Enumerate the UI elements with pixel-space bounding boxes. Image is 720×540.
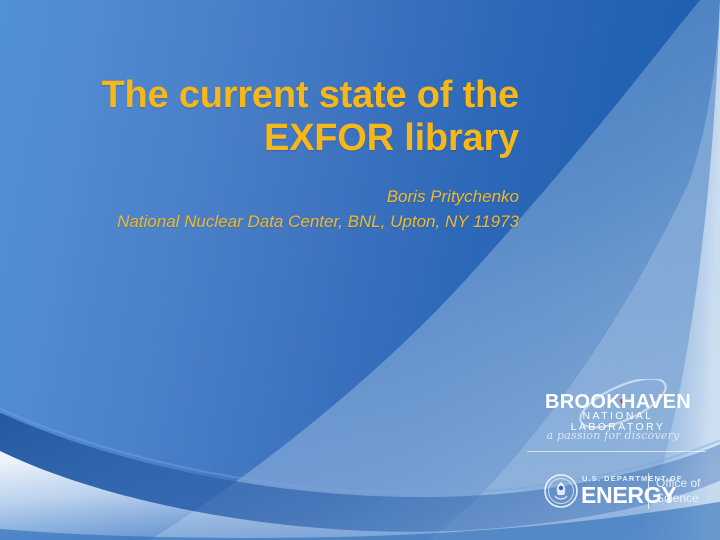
byline: Boris Pritychenko National Nuclear Data …	[30, 184, 519, 234]
author-affiliation: National Nuclear Data Center, BNL, Upton…	[30, 209, 519, 234]
doe-office-line-2: Science	[656, 491, 700, 506]
author-name: Boris Pritychenko	[30, 184, 519, 209]
doe-logo: U.S. DEPARTMENT OF ENERGY Office of Scie…	[544, 472, 710, 512]
logo-divider-rule	[527, 451, 706, 452]
page-title: The current state of the EXFOR library	[40, 74, 519, 160]
doe-office-label: Office of Science	[656, 476, 700, 505]
brookhaven-name: BROOKHAVEN	[535, 392, 701, 412]
doe-divider-rule	[648, 473, 649, 509]
doe-seal-icon	[544, 474, 578, 508]
title-slide: The current state of the EXFOR library B…	[0, 0, 720, 540]
doe-office-line-1: Office of	[656, 476, 700, 491]
brookhaven-logo: BROOKHAVEN NATIONAL LABORATORY a passion…	[527, 383, 707, 458]
brookhaven-wordmark: BROOKHAVEN NATIONAL LABORATORY	[527, 383, 707, 425]
brookhaven-tagline: a passion for discovery	[527, 429, 699, 442]
title-line-1: The current state of the	[40, 74, 519, 117]
title-line-2: EXFOR library	[40, 117, 519, 160]
right-edge-highlight	[640, 0, 720, 540]
